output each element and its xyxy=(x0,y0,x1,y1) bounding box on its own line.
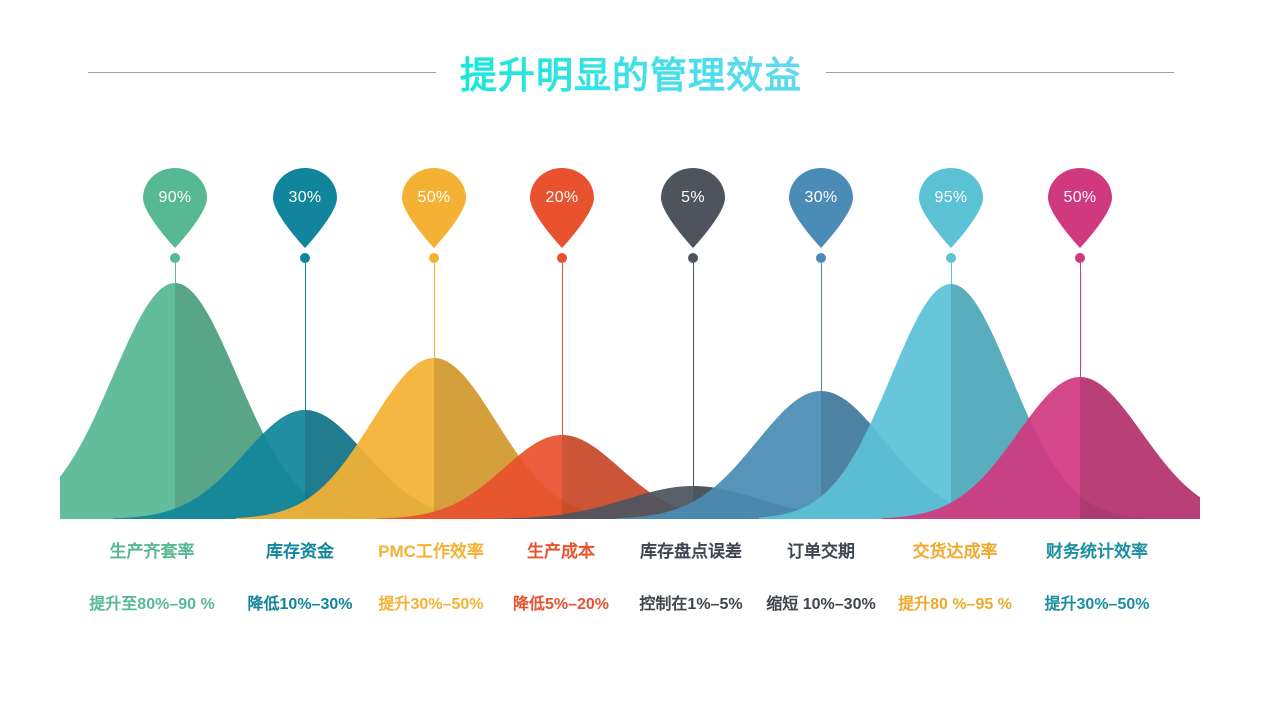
caption-category-label: 交货达成率 xyxy=(898,540,1012,564)
caption-4: 生产成本降低5%–20% xyxy=(513,540,609,616)
balloon-value-label: 90% xyxy=(141,168,209,228)
marker-stem-line xyxy=(305,263,306,410)
balloon-pin-icon[interactable]: 95% xyxy=(917,168,985,248)
marker-stem-line xyxy=(434,263,435,358)
caption-detail-label: 提升至80%–90 % xyxy=(89,594,214,616)
marker-dot xyxy=(429,253,439,263)
balloon-value-label: 30% xyxy=(271,168,339,228)
marker-dot xyxy=(688,253,698,263)
caption-detail-label: 降低5%–20% xyxy=(513,594,609,616)
balloon-value-label: 95% xyxy=(917,168,985,228)
caption-detail-label: 控制在1%–5% xyxy=(639,594,742,616)
marker-stem-line xyxy=(693,263,694,486)
caption-category-label: 生产成本 xyxy=(513,540,609,564)
marker-dot xyxy=(816,253,826,263)
caption-3: PMC工作效率提升30%–50% xyxy=(378,540,484,616)
caption-2: 库存资金降低10%–30% xyxy=(248,540,353,616)
marker-stem-line xyxy=(951,263,952,284)
balloon-value-label: 50% xyxy=(1046,168,1114,228)
bell-curve-1-left xyxy=(0,283,175,519)
caption-7: 交货达成率提升80 %–95 % xyxy=(898,540,1012,616)
caption-8: 财务统计效率提升30%–50% xyxy=(1045,540,1150,616)
balloon-pin-icon[interactable]: 50% xyxy=(400,168,468,248)
caption-detail-label: 提升80 %–95 % xyxy=(898,594,1012,616)
bell-curves xyxy=(0,283,1262,519)
bell-curve-8-right xyxy=(1080,377,1262,519)
caption-detail-label: 缩短 10%–30% xyxy=(766,594,875,616)
marker-dot xyxy=(300,253,310,263)
balloon-pin-icon[interactable]: 20% xyxy=(528,168,596,248)
caption-detail-label: 提升30%–50% xyxy=(378,594,484,616)
balloon-value-label: 50% xyxy=(400,168,468,228)
caption-category-label: PMC工作效率 xyxy=(378,540,484,564)
marker-dot xyxy=(946,253,956,263)
balloon-value-label: 30% xyxy=(787,168,855,228)
marker-dot xyxy=(1075,253,1085,263)
caption-1: 生产齐套率提升至80%–90 % xyxy=(89,540,214,616)
caption-category-label: 订单交期 xyxy=(766,540,875,564)
marker-dot xyxy=(557,253,567,263)
balloon-pin-icon[interactable]: 5% xyxy=(659,168,727,248)
caption-detail-label: 降低10%–30% xyxy=(248,594,353,616)
caption-5: 库存盘点误差控制在1%–5% xyxy=(639,540,742,616)
marker-dot xyxy=(170,253,180,263)
balloon-pin-icon[interactable]: 50% xyxy=(1046,168,1114,248)
caption-category-label: 库存资金 xyxy=(248,540,353,564)
marker-stem-line xyxy=(1080,263,1081,377)
marker-stem-line xyxy=(562,263,563,435)
balloon-pin-icon[interactable]: 90% xyxy=(141,168,209,248)
caption-category-label: 财务统计效率 xyxy=(1045,540,1150,564)
caption-category-label: 库存盘点误差 xyxy=(639,540,742,564)
marker-stem-line xyxy=(175,263,176,283)
balloon-pin-icon[interactable]: 30% xyxy=(271,168,339,248)
marker-stem-line xyxy=(821,263,822,391)
caption-category-label: 生产齐套率 xyxy=(89,540,214,564)
balloon-value-label: 20% xyxy=(528,168,596,228)
balloon-pin-icon[interactable]: 30% xyxy=(787,168,855,248)
caption-6: 订单交期缩短 10%–30% xyxy=(766,540,875,616)
captions-row: 生产齐套率提升至80%–90 %库存资金降低10%–30%PMC工作效率提升30… xyxy=(0,540,1262,650)
balloon-value-label: 5% xyxy=(659,168,727,228)
caption-detail-label: 提升30%–50% xyxy=(1045,594,1150,616)
